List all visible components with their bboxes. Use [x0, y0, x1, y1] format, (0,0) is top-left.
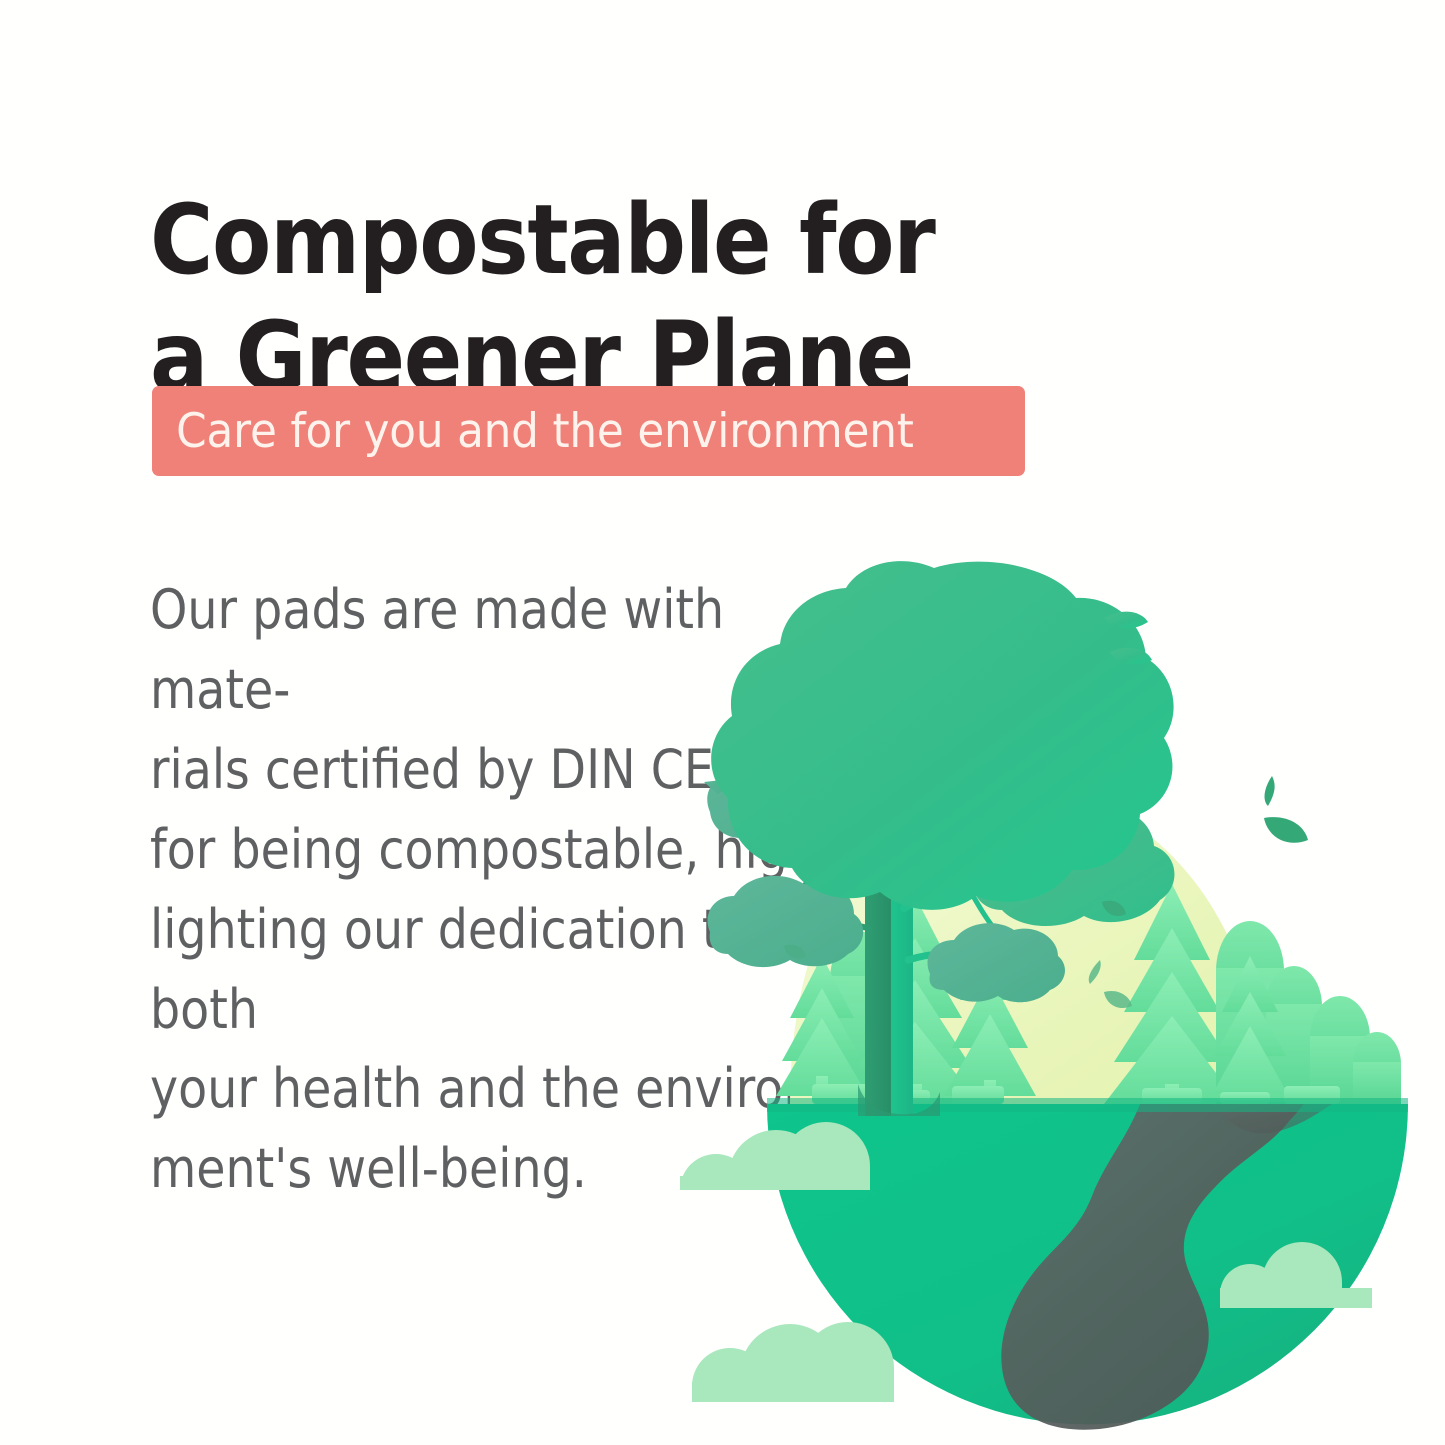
- promo-card: Compostable for a Greener Plane Care for…: [0, 0, 1445, 1445]
- status-badge-label: Care for you and the environment: [152, 404, 914, 459]
- cloud-left-upper: [680, 1122, 870, 1190]
- cloud-left-lower: [692, 1322, 894, 1402]
- status-badge: Care for you and the environment: [152, 386, 1025, 476]
- tree-on-half-globe-illustration: [672, 556, 1432, 1445]
- tree-canopy: [711, 561, 1173, 910]
- page-title: Compostable for a Greener Plane: [150, 182, 960, 416]
